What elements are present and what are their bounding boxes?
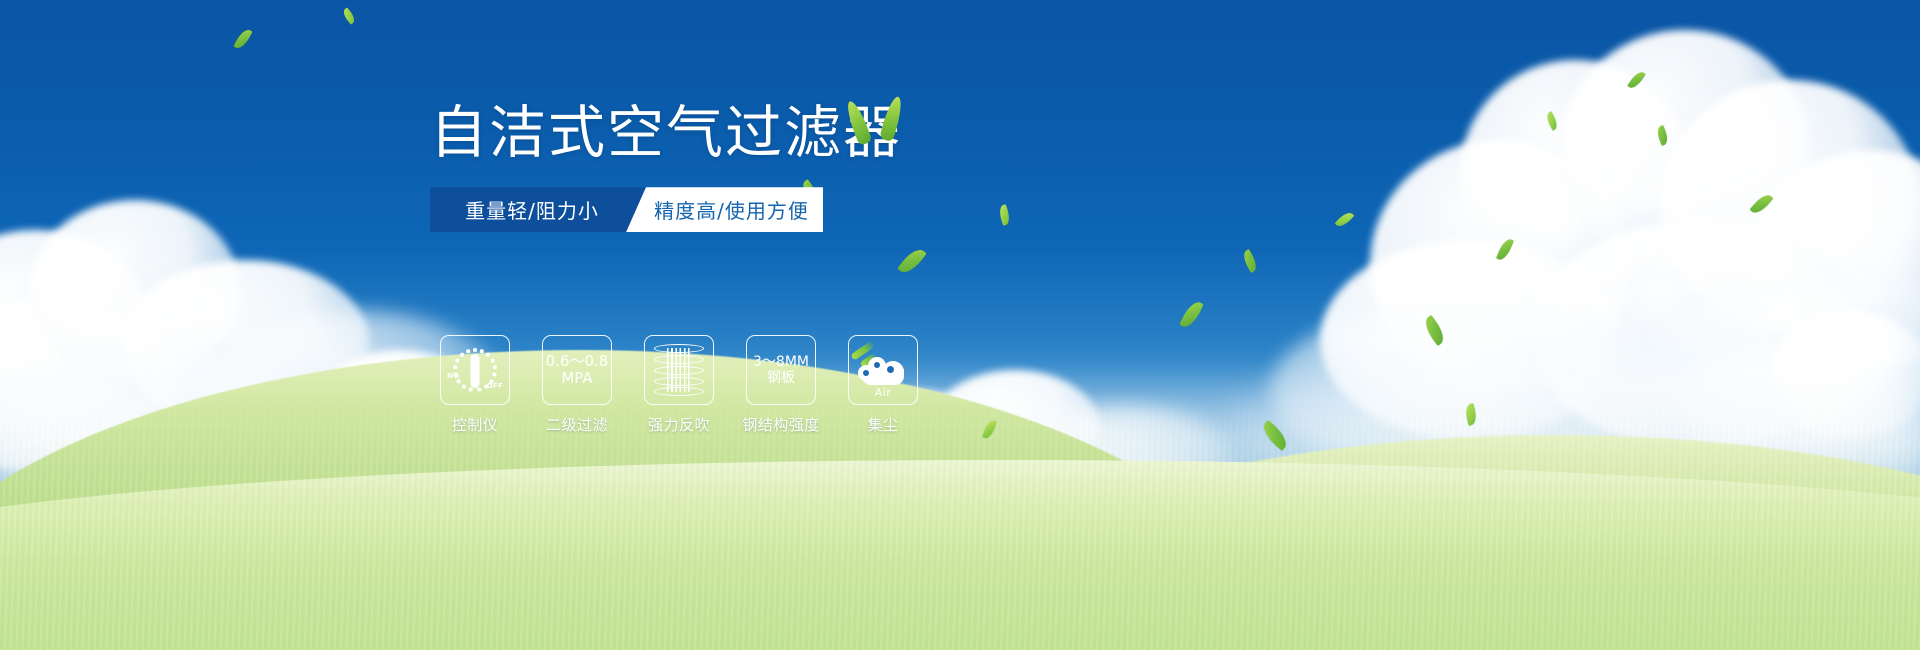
tab-precision-usage[interactable]: 精度高/使用方便 xyxy=(626,187,823,232)
feature-label: 集尘 xyxy=(867,414,898,435)
feature-two-stage-filter[interactable]: 0.6～0.8 MPA 二级过滤 xyxy=(542,335,612,435)
steel-plate-text-icon: 3～8MM 钢板 xyxy=(753,354,809,386)
air-label: Air xyxy=(854,386,912,399)
feature-strong-backblow[interactable]: 强力反吹 xyxy=(644,335,714,435)
feature-icon-box: NO OFF xyxy=(440,335,510,405)
feature-controller[interactable]: NO OFF 控制仪 xyxy=(440,335,510,435)
feature-label: 钢结构强度 xyxy=(742,414,820,435)
feature-label: 强力反吹 xyxy=(648,414,710,435)
feature-list: NO OFF 控制仪 0.6～0.8 MPA 二级过滤 xyxy=(440,335,918,435)
feature-icon-box: Air xyxy=(848,335,918,405)
tab-weight-resistance[interactable]: 重量轻/阻力小 xyxy=(430,187,646,232)
page-title: 自洁式空气过滤器 xyxy=(430,104,1070,163)
gauge-icon: NO OFF xyxy=(447,342,503,398)
banner-content: 自洁式空气过滤器 重量轻/阻力小 精度高/使用方便 xyxy=(430,104,1070,232)
gauge-label-on: NO xyxy=(447,372,459,380)
product-banner: 自洁式空气过滤器 重量轻/阻力小 精度高/使用方便 xyxy=(0,0,1920,650)
gauge-label-off: OFF xyxy=(487,382,503,390)
feature-label: 二级过滤 xyxy=(546,414,608,435)
feature-icon-box xyxy=(644,335,714,405)
feature-label: 控制仪 xyxy=(452,414,499,435)
filter-cartridge-icon xyxy=(654,344,704,396)
feature-icon-box: 0.6～0.8 MPA xyxy=(542,335,612,405)
feature-icon-box: 3～8MM 钢板 xyxy=(746,335,816,405)
pressure-text-icon: 0.6～0.8 MPA xyxy=(546,353,609,388)
title-leaf-decoration-icon xyxy=(845,96,915,150)
feature-steel-strength[interactable]: 3～8MM 钢板 钢结构强度 xyxy=(746,335,816,435)
feature-dust-collection[interactable]: Air 集尘 xyxy=(848,335,918,435)
tab-bar: 重量轻/阻力小 精度高/使用方便 xyxy=(430,187,823,232)
air-cloud-icon: Air xyxy=(854,345,912,395)
grass-texture xyxy=(0,400,1920,650)
